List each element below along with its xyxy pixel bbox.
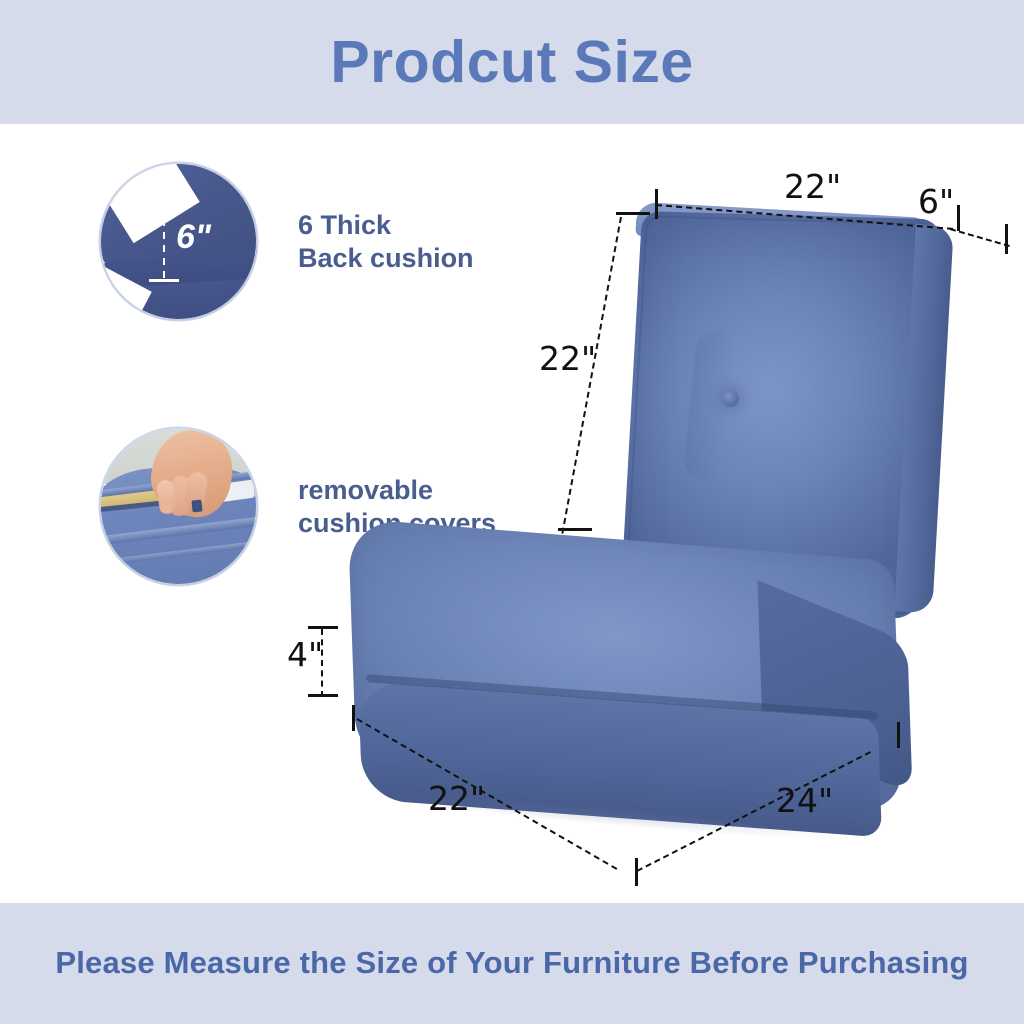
- dimension-label: 22": [784, 170, 841, 203]
- dimension-label: 22": [539, 342, 596, 375]
- dimension-label: 22": [428, 782, 485, 815]
- infographic-page: Prodcut Size 6" 6 Thick Back cushion: [0, 0, 1024, 1024]
- dimension-label: 6": [918, 185, 954, 218]
- inline-dimension-label: 6": [176, 220, 211, 254]
- product-illustration: [0, 0, 1024, 1024]
- dimension-label: 24": [776, 784, 833, 817]
- inline-dimension-line: [163, 193, 165, 281]
- dimension-label: 4": [287, 638, 323, 671]
- measure-note: Please Measure the Size of Your Furnitur…: [5, 943, 1018, 984]
- footer-band: Please Measure the Size of Your Furnitur…: [0, 903, 1024, 1024]
- tufted-button: [722, 390, 739, 407]
